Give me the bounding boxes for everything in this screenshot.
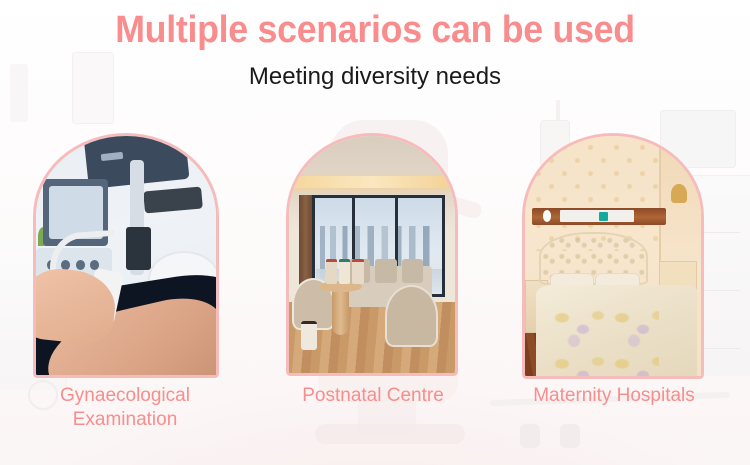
card-arch-frame [33, 133, 219, 378]
scenario-label-maternity-hospitals: Maternity Hospitals [500, 384, 728, 408]
scenario-label-postnatal-centre: Postnatal Centre [268, 384, 478, 408]
background-exam-chair-base [315, 424, 465, 444]
maternity-hospitals-photo [525, 136, 701, 376]
background-caster-wheel [560, 424, 580, 448]
scenario-label-gynaecological-examination: Gynaecological Examination [0, 384, 250, 432]
gynaecological-examination-photo [36, 136, 216, 375]
scenario-card-gynaecological-examination[interactable] [33, 133, 219, 378]
card-arch-frame [286, 133, 458, 376]
background-caster-wheel [520, 424, 540, 448]
postnatal-centre-photo [289, 136, 455, 373]
card-arch-frame [522, 133, 704, 379]
scenario-card-maternity-hospitals[interactable] [522, 133, 704, 379]
scenario-label-line-1: Gynaecological [60, 385, 190, 406]
scenario-label-line-2: Examination [73, 409, 178, 430]
banner-title: Multiple scenarios can be used [23, 8, 728, 52]
banner-subtitle: Meeting diversity needs [0, 62, 750, 92]
scenario-card-postnatal-centre[interactable] [286, 133, 458, 376]
scenarios-banner: Multiple scenarios can be used Meeting d… [0, 0, 750, 465]
